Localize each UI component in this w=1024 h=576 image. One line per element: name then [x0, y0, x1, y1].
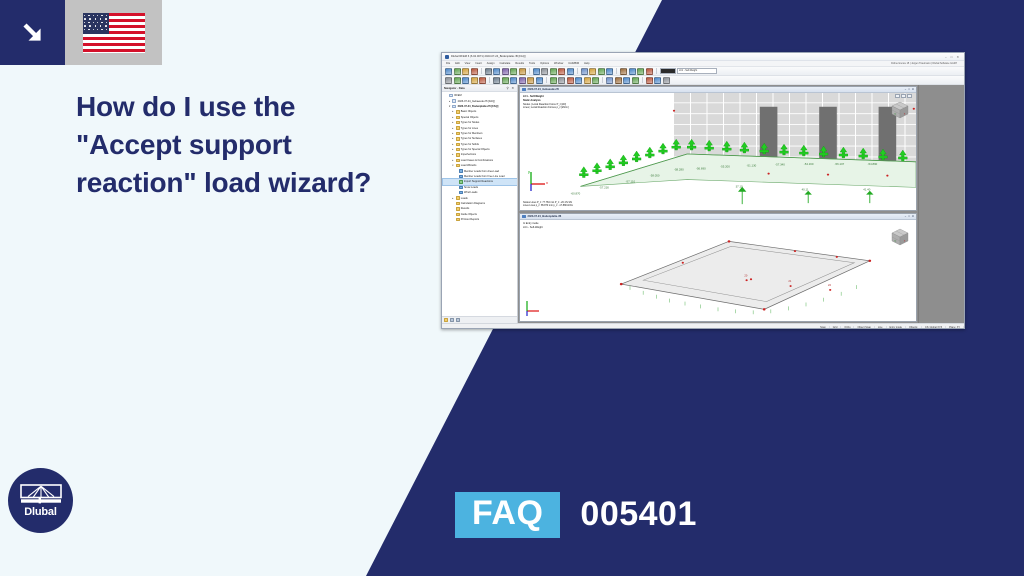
toolbar-button-15[interactable] — [589, 68, 596, 75]
menu-item-file[interactable]: File — [446, 62, 450, 65]
chevron-right-icon[interactable]: ▸ — [451, 121, 454, 124]
work-area: 2023-07-24_Gebaeude.rf6 – □ ✕ LC1 - Self… — [518, 85, 918, 323]
us-flag-icon — [83, 13, 145, 53]
toolbar-separator — [489, 77, 490, 83]
svg-text:-56.690: -56.690 — [696, 167, 706, 171]
toolbar-button-10[interactable] — [541, 68, 548, 75]
axis-triad-icon-2 — [524, 299, 542, 317]
toolbar-button-21[interactable] — [646, 77, 653, 84]
menu-item-options[interactable]: Options — [540, 62, 549, 65]
tree-item-label: Results — [461, 207, 470, 210]
tree-item-label: Basic Objects — [461, 110, 477, 113]
toolbar-button-11[interactable] — [550, 77, 557, 84]
tree-item-label: Loads — [461, 197, 468, 200]
chevron-right-icon[interactable]: ▸ — [451, 132, 454, 135]
vp-close-icon[interactable]: ✕ — [912, 88, 914, 91]
toolbar-button-2[interactable] — [462, 68, 469, 75]
structural-model-3d: -60.870-57.230 -57.110-58.050 -58.280-56… — [520, 93, 916, 210]
chevron-right-icon[interactable]: ▸ — [451, 127, 454, 130]
tree-item-label: Guide Objects — [461, 213, 477, 216]
app-icon — [445, 55, 449, 59]
svg-text:37.19: 37.19 — [736, 185, 744, 189]
tree-item-label: Printout Reports — [461, 218, 479, 221]
svg-text:-54.890: -54.890 — [868, 162, 878, 166]
toolbar-separator — [602, 77, 603, 83]
toolbar-separator — [656, 68, 657, 74]
chevron-right-icon[interactable]: ▸ — [451, 137, 454, 140]
menu-item-results[interactable]: Results — [515, 62, 524, 65]
navigator-header: Navigator - Data ⚲ ✕ — [442, 85, 517, 92]
viewport-top-canvas[interactable]: LC1 - Self-Weight Static Analysis Nodes … — [520, 93, 916, 210]
vp2-minimize-icon[interactable]: – — [905, 215, 906, 218]
toolbar-separator — [577, 68, 578, 74]
chevron-right-icon[interactable]: ▸ — [451, 153, 454, 156]
tree-item-label: 2023-07-24_Gebaeude.rf6 [FAQ] — [458, 100, 495, 103]
viewport-icon — [522, 88, 526, 91]
app-title: Dlubal RFEM 6 (6.02.0071) 2023-07-24_Bod… — [451, 55, 526, 58]
doc-icon — [452, 105, 456, 108]
dlubal-logo-text: Dlubal — [24, 507, 56, 518]
folder-icon — [456, 116, 460, 119]
toolbar-button-17[interactable] — [606, 77, 613, 84]
toolbar-button-12[interactable] — [558, 77, 565, 84]
toolbar-button-14[interactable] — [581, 68, 588, 75]
svg-text:-60.870: -60.870 — [571, 191, 581, 195]
folder-icon — [456, 153, 460, 156]
folder-icon — [456, 148, 460, 151]
app-toolbar-primary[interactable]: LC1 - Self-Weight — [442, 67, 964, 76]
toolbar-button-16[interactable] — [598, 68, 605, 75]
toolbar-separator — [616, 68, 617, 74]
svg-text:-56.107: -56.107 — [835, 162, 845, 166]
tree-item-label: Snow Loads — [464, 186, 478, 189]
svg-text:-51.130: -51.130 — [747, 164, 757, 168]
tree-item-label: Imperfections — [461, 153, 476, 156]
green-icon — [459, 180, 463, 183]
tree-item-label: Types for Lines — [461, 127, 478, 130]
svg-text:41.40: 41.40 — [863, 188, 871, 192]
toolbar-button-1[interactable] — [454, 68, 461, 75]
axis-triad-icon: x y — [527, 170, 549, 192]
slab-model-3d: 202122 — [520, 220, 916, 321]
svg-text:-57.110: -57.110 — [626, 180, 636, 184]
folder-icon — [456, 164, 460, 167]
tree-item-label: Calculation Diagrams — [461, 202, 485, 205]
blue-icon — [459, 175, 463, 178]
folder-icon — [456, 202, 460, 205]
menu-item-assign[interactable]: Assign — [487, 62, 495, 65]
folder-icon — [456, 159, 460, 162]
window-controls[interactable]: – □ ✕ — [945, 55, 961, 59]
statusbar-item-line[interactable]: Line — [875, 326, 887, 329]
tree-item-label: Member Loads from Free Line Load — [464, 175, 505, 178]
page-title: How do I use the "Accept support reactio… — [76, 88, 376, 202]
chevron-right-icon[interactable]: ▸ — [451, 110, 454, 113]
viewport-building[interactable]: 2023-07-24_Gebaeude.rf6 – □ ✕ LC1 - Self… — [519, 86, 917, 211]
folder-icon — [456, 213, 460, 216]
toolbar-button-1[interactable] — [454, 77, 461, 84]
toolbar-button-4[interactable] — [485, 68, 492, 75]
toolbar-button-7[interactable] — [510, 77, 517, 84]
folder-icon — [456, 110, 460, 113]
tree-item-label: Types for Surfaces — [461, 137, 482, 140]
tree-item[interactable]: Printout Reports — [443, 217, 517, 222]
view-cube-icon-2[interactable]: y x — [889, 227, 911, 247]
header-badges — [0, 0, 162, 65]
minimize-icon[interactable]: – — [945, 55, 947, 59]
viewport-bottom-window-controls[interactable]: – □ ✕ — [905, 215, 914, 218]
blue-icon — [459, 169, 463, 172]
toolbar-button-14[interactable] — [575, 77, 582, 84]
chevron-right-icon[interactable]: ▸ — [448, 100, 451, 103]
navigator-tabs[interactable] — [442, 316, 517, 323]
toolbar-button-6[interactable] — [502, 77, 509, 84]
chevron-right-icon[interactable]: ▸ — [451, 143, 454, 146]
viewport-top-title: 2023-07-24_Gebaeude.rf6 — [528, 88, 559, 91]
vp2-close-icon[interactable]: ✕ — [912, 215, 914, 218]
folder-icon — [456, 126, 460, 129]
vp2-maximize-icon[interactable]: □ — [908, 215, 910, 218]
right-dock-panel — [918, 85, 964, 323]
svg-text:-57.230: -57.230 — [599, 186, 609, 190]
statusbar-item-cs--global-xyz[interactable]: CS: Global XYZ — [922, 326, 946, 329]
viewport-bottom-canvas[interactable]: In Entry mode LC1 - Self-Weight — [520, 220, 916, 321]
us-flag-badge — [65, 0, 162, 65]
toolbar-button-9[interactable] — [533, 68, 540, 75]
tree-item-label: Special Objects — [461, 116, 479, 119]
tree-item-label: Wind Loads — [464, 191, 477, 194]
faq-tag: FAQ — [455, 492, 560, 538]
chevron-right-icon[interactable]: ▸ — [451, 197, 454, 200]
vp-minimize-icon[interactable]: – — [905, 88, 906, 91]
toolbar-button-20[interactable] — [632, 77, 639, 84]
statusbar-item-grid[interactable]: Grid — [830, 326, 842, 329]
nav-tab-results-icon[interactable] — [456, 318, 460, 322]
toolbar-button-19[interactable] — [623, 77, 630, 84]
close-icon[interactable]: ✕ — [956, 55, 959, 59]
viewport-icon — [522, 215, 526, 218]
tree-item-label: Types for Special Objects — [461, 148, 490, 151]
tree-item-label: Load Cases & Combinations — [461, 159, 493, 162]
nav-tab-data-icon[interactable] — [444, 318, 448, 322]
toolbar-button-7[interactable] — [510, 68, 517, 75]
chevron-down-icon[interactable]: ▾ — [451, 164, 454, 167]
tree-item-label: RFEM — [454, 94, 461, 97]
app-toolbar-secondary[interactable] — [442, 76, 964, 85]
menu-item-help[interactable]: Help — [584, 62, 589, 65]
svg-text:x: x — [546, 180, 548, 185]
chevron-right-icon[interactable]: ▸ — [451, 148, 454, 151]
blue-icon — [459, 186, 463, 189]
navigator-pin-close-icons[interactable]: ⚲ ✕ — [506, 86, 515, 90]
viewport-foundation-slab[interactable]: 2023-07-24_Bodenplatte.rf6 – □ ✕ In Entr… — [519, 213, 917, 322]
svg-text:-58.050: -58.050 — [650, 174, 660, 178]
statusbar-item-plane--xy[interactable]: Plane: XY — [946, 326, 964, 329]
toolbar-button-8[interactable] — [519, 77, 526, 84]
svg-text:y: y — [528, 170, 530, 174]
menu-item-view[interactable]: View — [465, 62, 471, 65]
toolbar-button-2[interactable] — [462, 77, 469, 84]
svg-text:-55.200: -55.200 — [720, 165, 730, 169]
tree-item-label: Import Support Reactions — [464, 180, 493, 183]
vp-mini-min-icon[interactable] — [895, 94, 900, 98]
vp-mini-close-icon[interactable] — [907, 94, 912, 98]
toolbar-button-21[interactable] — [646, 68, 653, 75]
nav-tab-display-icon[interactable] — [450, 318, 454, 322]
toolbar-separator — [642, 77, 643, 83]
toolbar-button-18[interactable] — [615, 77, 622, 84]
app-body: Navigator - Data ⚲ ✕ RFEM▸2023-07-24_Geb… — [442, 85, 964, 323]
tree-item-label: Load Wizards — [461, 164, 477, 167]
folder-icon — [456, 137, 460, 140]
arrow-down-right-badge — [0, 0, 65, 65]
menu-item-tools[interactable]: Tools — [529, 62, 535, 65]
statusbar-item-object-snap[interactable]: Object Snap — [854, 326, 874, 329]
navigator-tree[interactable]: RFEM▸2023-07-24_Gebaeude.rf6 [FAQ]▾2023-… — [442, 92, 517, 316]
viewport-top-mini-controls[interactable] — [895, 94, 912, 98]
tree-item-label: Types for Members — [461, 132, 483, 135]
tree-item-label: 2023-07-24_Bodenplatte.rf6 [FAQ] — [458, 105, 499, 108]
chevron-down-icon[interactable]: ▾ — [448, 105, 451, 108]
menu-item-window[interactable]: Window — [554, 62, 563, 65]
chevron-right-icon[interactable]: ▸ — [451, 116, 454, 119]
viewport-top-window-controls[interactable]: – □ ✕ — [905, 88, 914, 91]
app-statusbar: SnapGridOrthoObject SnapLineEntry modeOb… — [442, 323, 964, 329]
toolbar-button-20[interactable] — [637, 68, 644, 75]
foot-line-1: Lines Lines p_z: 85.870 min p_z: -17.880… — [523, 204, 573, 208]
toolbar-button-5[interactable] — [493, 68, 500, 75]
vp-maximize-icon[interactable]: □ — [908, 88, 910, 91]
faq-badge-row: FAQ 005401 — [455, 492, 697, 538]
svg-text:22: 22 — [828, 284, 832, 287]
toolbar-button-0[interactable] — [445, 77, 452, 84]
maximize-icon[interactable]: □ — [951, 55, 953, 59]
toolbar-button-0[interactable] — [445, 68, 452, 75]
toolbar-button-23[interactable] — [663, 77, 670, 84]
toolbar-button-22[interactable] — [654, 77, 661, 84]
toolbar-button-8[interactable] — [519, 68, 526, 75]
toolbar-button-3[interactable] — [471, 77, 478, 84]
toolbar-button-3[interactable] — [471, 68, 478, 75]
svg-text:40.11: 40.11 — [802, 188, 809, 192]
rfem-application-window: Dlubal RFEM 6 (6.02.0071) 2023-07-24_Bod… — [441, 52, 965, 329]
toolbar-button-15[interactable] — [584, 77, 591, 84]
license-text: Online licence 15 | Jurgen Trautmann | D… — [891, 62, 960, 65]
menu-item-edit[interactable]: Edit — [455, 62, 459, 65]
menu-item-calculate[interactable]: Calculate — [500, 62, 511, 65]
toolbar-button-10[interactable] — [536, 77, 543, 84]
navigator-title: Navigator - Data — [444, 87, 465, 90]
toolbar-button-4[interactable] — [479, 77, 486, 84]
menu-item-cad-bim[interactable]: CAD/BIM — [568, 62, 579, 65]
toolbar-button-11[interactable] — [550, 68, 557, 75]
folder-icon — [456, 132, 460, 135]
folder-icon — [456, 196, 460, 199]
view-cube-icon[interactable]: y x — [889, 100, 911, 120]
load-case-combo[interactable]: LC1 - Self-Weight — [677, 68, 717, 74]
toolbar-button-6[interactable] — [502, 68, 509, 75]
navigator-panel: Navigator - Data ⚲ ✕ RFEM▸2023-07-24_Geb… — [442, 85, 518, 323]
toolbar-button-16[interactable] — [592, 77, 599, 84]
doc-icon — [452, 99, 456, 102]
statusbar-item-entry-mode[interactable]: Entry mode — [887, 326, 906, 329]
tree-item-label: Member Loads from Area Load — [464, 170, 499, 173]
toolbar-button-17[interactable] — [606, 68, 613, 75]
toolbar-button-13[interactable] — [567, 77, 574, 84]
tree-item-label: Types for Solids — [461, 143, 479, 146]
toolbar-button-12[interactable] — [558, 68, 565, 75]
dlubal-logo: Dlubal — [8, 468, 73, 533]
toolbar-button-18[interactable] — [620, 68, 627, 75]
toolbar-separator — [529, 68, 530, 74]
blue-icon — [459, 191, 463, 194]
folder-icon — [456, 207, 460, 210]
tree-item-label: Types for Nodes — [461, 121, 480, 124]
statusbar-item-objects-[interactable]: Objects: — [906, 326, 922, 329]
svg-text:-57.340: -57.340 — [775, 163, 785, 167]
bridge-truss-icon — [20, 484, 62, 506]
viewport-top-footer-info: Nodes Lines P_z: 77.784 min P_z: -20.172… — [523, 201, 573, 208]
app-titlebar: Dlubal RFEM 6 (6.02.0071) 2023-07-24_Bod… — [442, 53, 964, 61]
chevron-right-icon[interactable]: ▸ — [451, 159, 454, 162]
statusbar-item-snap[interactable]: Snap — [817, 326, 830, 329]
folder-icon — [456, 143, 460, 146]
faq-number: 005401 — [580, 497, 696, 533]
toolbar-separator — [546, 77, 547, 83]
arrow-down-right-icon — [18, 18, 48, 48]
svg-text:-58.280: -58.280 — [674, 168, 684, 172]
doc-icon — [449, 94, 453, 97]
menu-item-insert[interactable]: Insert — [475, 62, 482, 65]
svg-text:-54.160: -54.160 — [804, 162, 814, 166]
folder-icon — [456, 218, 460, 221]
toolbar-separator — [481, 68, 482, 74]
toolbar-button-13[interactable] — [567, 68, 574, 75]
load-case-color-swatch[interactable] — [660, 68, 676, 74]
toolbar-button-5[interactable] — [493, 77, 500, 84]
vp-mini-max-icon[interactable] — [901, 94, 906, 98]
toolbar-button-19[interactable] — [629, 68, 636, 75]
toolbar-button-9[interactable] — [527, 77, 534, 84]
viewport-bottom-title: 2023-07-24_Bodenplatte.rf6 — [528, 215, 562, 218]
statusbar-item-ortho[interactable]: Ortho — [841, 326, 854, 329]
folder-icon — [456, 121, 460, 124]
